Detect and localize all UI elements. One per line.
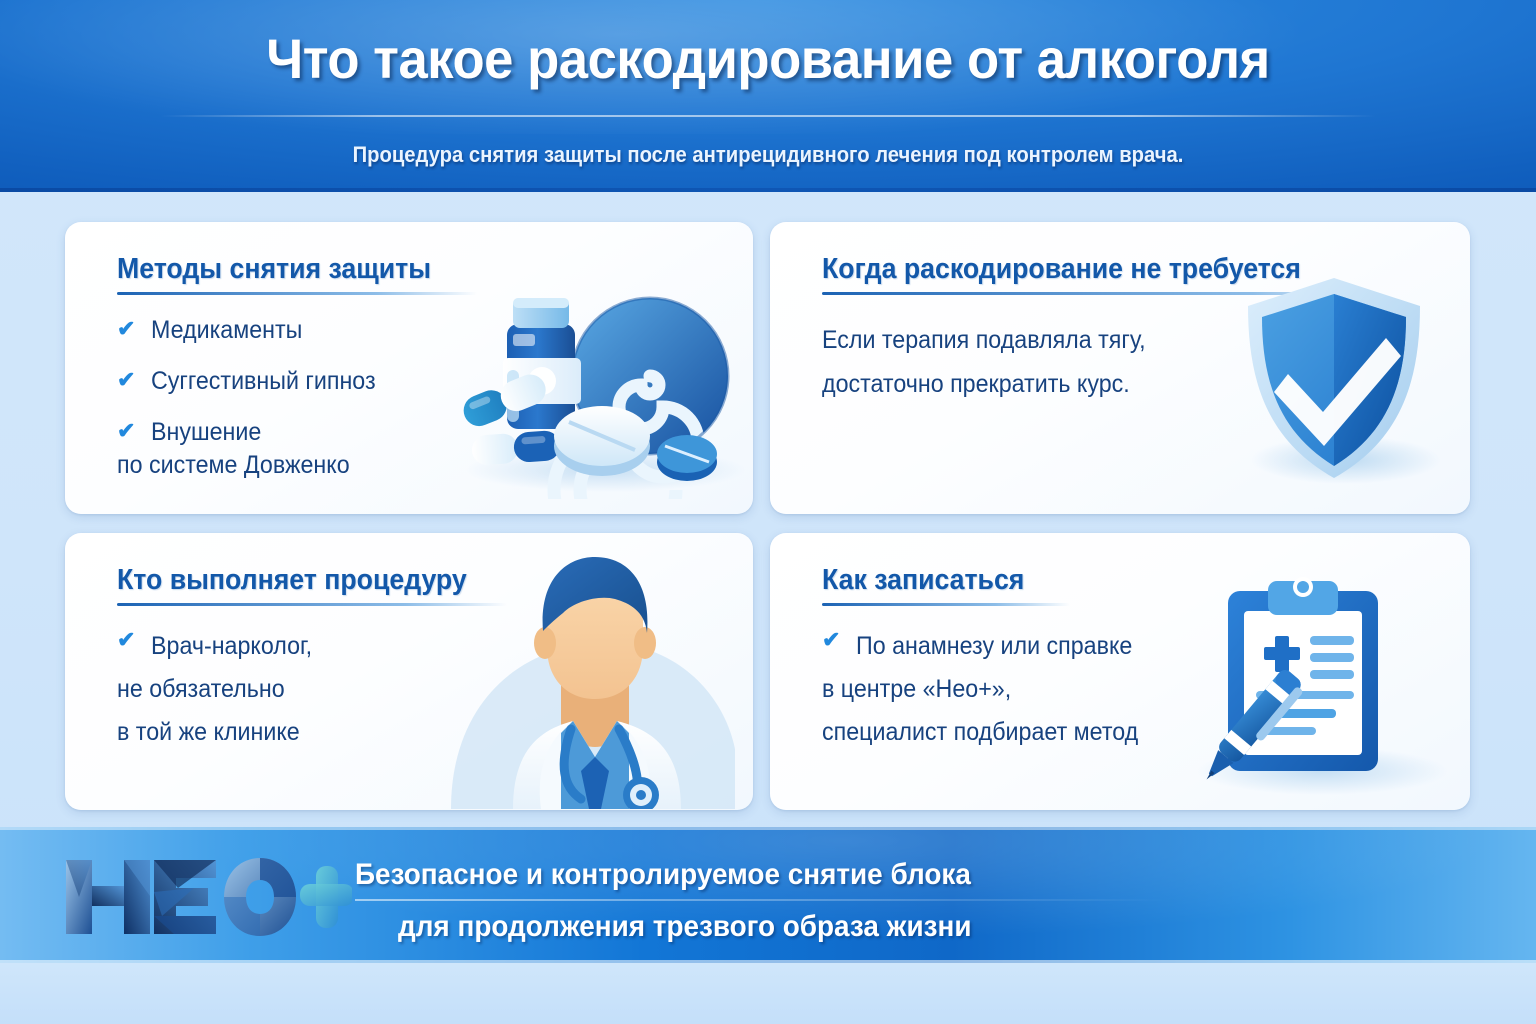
card-when-not-needed-underline (822, 292, 1374, 295)
page-title: Что такое раскодирование от алкоголя (46, 24, 1490, 94)
infographic-poster: Что такое раскодирование от алкоголя Про… (0, 0, 1536, 1024)
card-how-to-book[interactable]: Как записаться ✔ По анамнезу или справке… (770, 533, 1470, 810)
list-item-label-continued-2: специалист подбирает метод (822, 711, 1138, 754)
card-how-to-book-bullets: ✔ По анамнезу или справке в центре «Нео+… (822, 625, 1162, 754)
card-methods[interactable]: Методы снятия защиты ✔ Медикаменты ✔ Суг… (65, 222, 753, 514)
list-item-label-group: Врач-нарколог, не обязательно в той же к… (151, 625, 324, 754)
card-when-not-needed-header: Когда раскодирование не требуется (822, 252, 1430, 295)
footer-tagline-line2: для продолжения трезвого образа жизни (398, 910, 971, 944)
card-methods-bullets: ✔ Медикаменты ✔ Суггестивный гипноз ✔ Вн… (117, 314, 393, 482)
list-item: ✔ Медикаменты (117, 314, 393, 347)
card-methods-underline (117, 292, 477, 295)
body-line: достаточно прекратить курс. (822, 362, 1146, 406)
list-item-label-group: По анамнезу или справке в центре «Нео+»,… (856, 625, 1162, 754)
card-who-performs-title: Кто выполняет процедуру (117, 563, 665, 597)
check-icon: ✔ (822, 625, 856, 655)
card-methods-title: Методы снятия защиты (117, 252, 665, 286)
card-who-performs[interactable]: Кто выполняет процедуру ✔ Врач-нарколог,… (65, 533, 753, 810)
list-item-label-continued: не обязательно (117, 668, 310, 711)
neo-plus-logo (62, 852, 352, 942)
list-item-label: Медикаменты (151, 314, 302, 347)
header-band: Что такое раскодирование от алкоголя Про… (0, 0, 1536, 192)
list-item-label-continued: по системе Довженко (117, 449, 350, 482)
list-item: ✔ Внушение по системе Довженко (117, 416, 393, 482)
check-icon: ✔ (117, 314, 151, 344)
card-when-not-needed[interactable]: Когда раскодирование не требуется Если т… (770, 222, 1470, 514)
card-how-to-book-underline (822, 603, 1070, 606)
check-icon: ✔ (117, 416, 151, 446)
check-icon: ✔ (117, 365, 151, 395)
body-line: Если терапия подавляла тягу, (822, 318, 1146, 362)
footer-band: Безопасное и контролируемое снятие блока… (0, 827, 1536, 963)
check-icon: ✔ (117, 625, 151, 655)
list-item-label-group: Внушение по системе Довженко (151, 416, 367, 482)
bottom-strip (0, 963, 1536, 1024)
card-when-not-needed-title: Когда раскодирование не требуется (822, 252, 1381, 286)
card-who-performs-underline (117, 603, 507, 606)
card-how-to-book-title: Как записаться (822, 563, 1381, 597)
shield-check-illustration (1220, 264, 1450, 499)
list-item-label: Врач-нарколог, (151, 625, 312, 668)
card-who-performs-header: Кто выполняет процедуру (117, 563, 713, 606)
list-item: ✔ По анамнезу или справке в центре «Нео+… (822, 625, 1162, 754)
card-methods-header: Методы снятия защиты (117, 252, 713, 295)
card-when-not-needed-body: Если терапия подавляла тягу, достаточно … (822, 318, 1146, 406)
footer-tagline-line1: Безопасное и контролируемое снятие блока (355, 858, 971, 892)
footer-divider (355, 899, 1165, 901)
list-item-label-continued-2: в той же клинике (117, 711, 310, 754)
pills-spiral-illustration (445, 284, 745, 499)
card-how-to-book-header: Как записаться (822, 563, 1430, 606)
list-item-label: Внушение (151, 416, 352, 449)
list-item-label: По анамнезу или справке (856, 625, 1141, 668)
list-item: ✔ Суггестивный гипноз (117, 365, 393, 398)
header-divider (160, 115, 1376, 117)
list-item-label: Суггестивный гипноз (151, 365, 376, 398)
list-item-label-continued: в центре «Нео+», (822, 668, 1138, 711)
list-item: ✔ Врач-нарколог, не обязательно в той же… (117, 625, 324, 754)
card-who-performs-bullets: ✔ Врач-нарколог, не обязательно в той же… (117, 625, 324, 754)
page-subtitle: Процедура снятия защиты после антирециди… (61, 140, 1474, 170)
